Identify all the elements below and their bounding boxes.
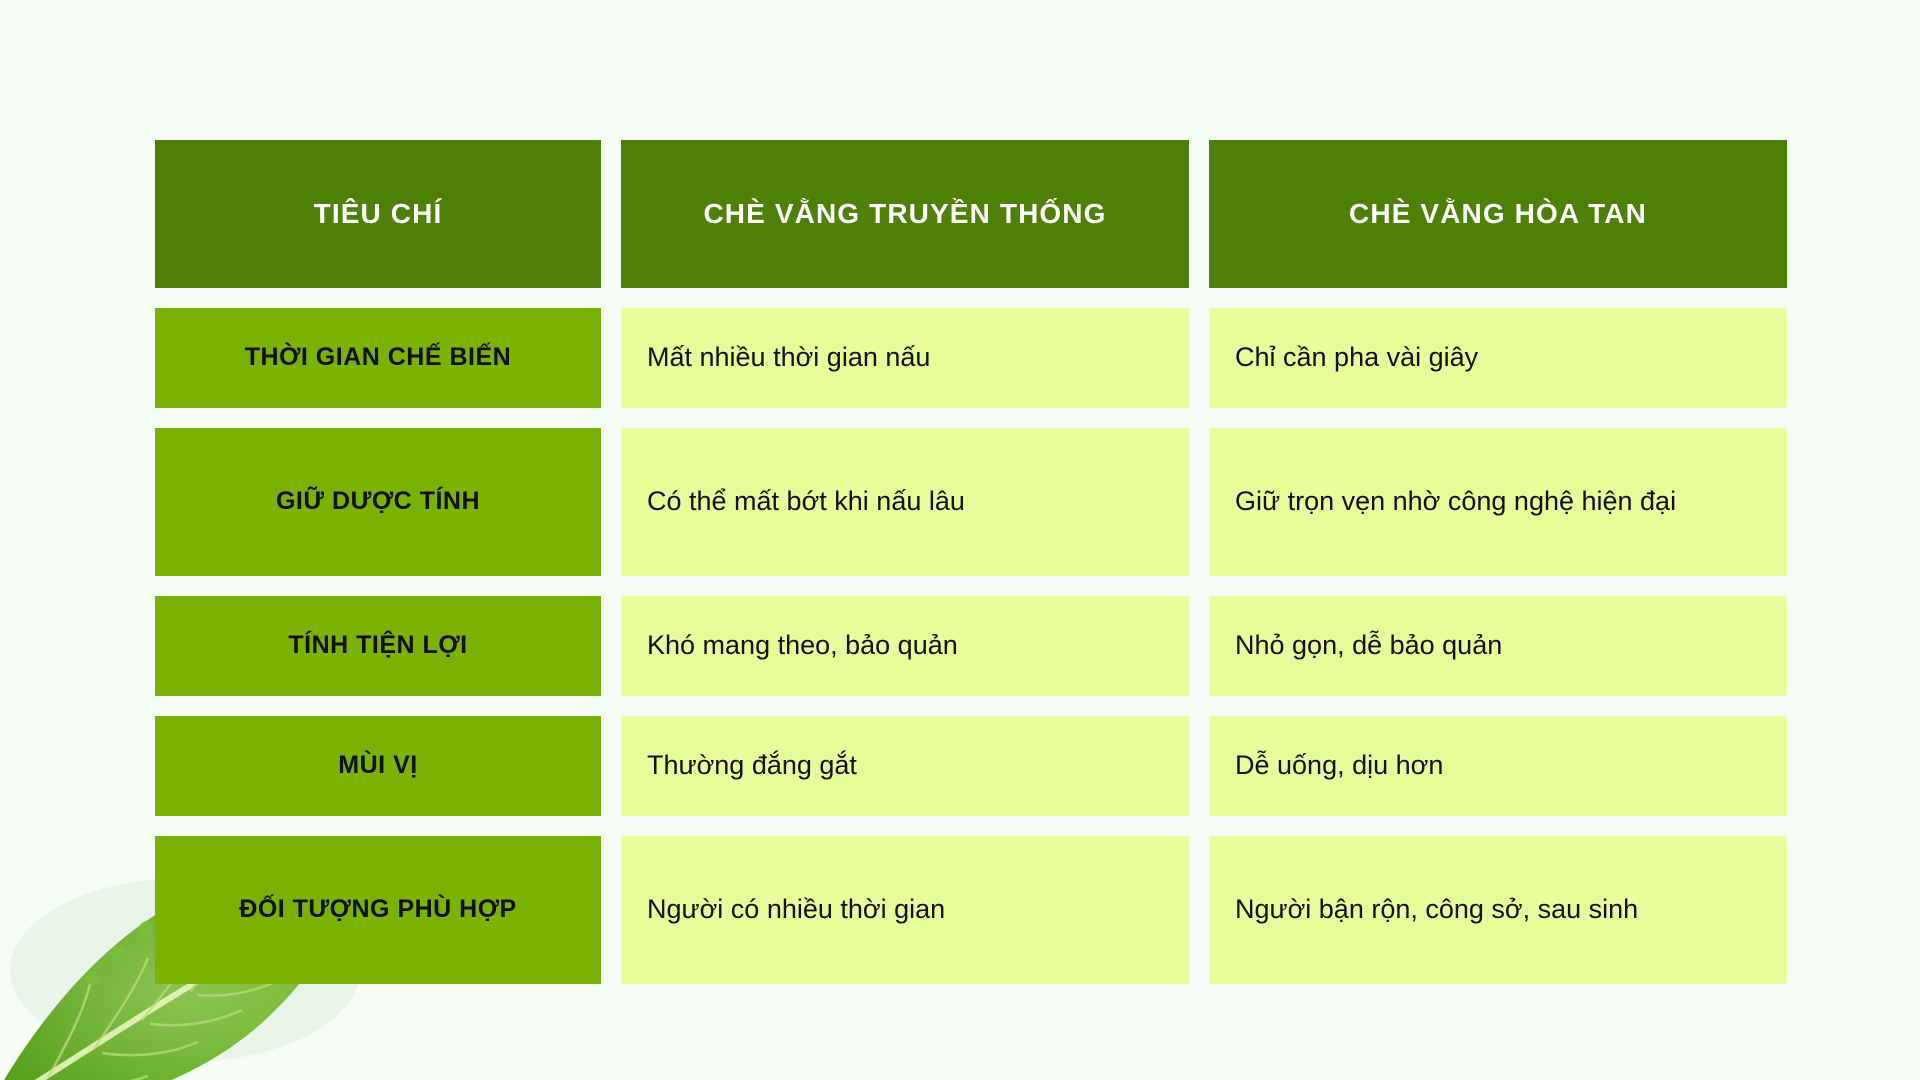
table-cell-traditional: Thường đắng gắt	[621, 716, 1189, 816]
table-header-criterion: TIÊU CHÍ	[155, 140, 601, 288]
comparison-table: TIÊU CHÍ CHÈ VẰNG TRUYỀN THỐNG CHÈ VẰNG …	[155, 140, 1785, 984]
table-cell-instant: Dễ uống, dịu hơn	[1209, 716, 1787, 816]
table-cell-traditional: Mất nhiều thời gian nấu	[621, 308, 1189, 408]
table-cell-instant: Giữ trọn vẹn nhờ công nghệ hiện đại	[1209, 428, 1787, 576]
table-row-label: THỜI GIAN CHẾ BIẾN	[155, 308, 601, 408]
table-row-label: GIỮ DƯỢC TÍNH	[155, 428, 601, 576]
table-header-traditional: CHÈ VẰNG TRUYỀN THỐNG	[621, 140, 1189, 288]
table-cell-instant: Nhỏ gọn, dễ bảo quản	[1209, 596, 1787, 696]
table-cell-instant: Chỉ cần pha vài giây	[1209, 308, 1787, 408]
table-cell-traditional: Khó mang theo, bảo quản	[621, 596, 1189, 696]
table-cell-instant: Người bận rộn, công sở, sau sinh	[1209, 836, 1787, 984]
table-row-label: ĐỐI TƯỢNG PHÙ HỢP	[155, 836, 601, 984]
table-cell-traditional: Người có nhiều thời gian	[621, 836, 1189, 984]
table-cell-traditional: Có thể mất bớt khi nấu lâu	[621, 428, 1189, 576]
table-grid: TIÊU CHÍ CHÈ VẰNG TRUYỀN THỐNG CHÈ VẰNG …	[155, 140, 1785, 984]
table-row-label: MÙI VỊ	[155, 716, 601, 816]
slide-canvas: TIÊU CHÍ CHÈ VẰNG TRUYỀN THỐNG CHÈ VẰNG …	[0, 0, 1920, 1080]
table-row-label: TÍNH TIỆN LỢI	[155, 596, 601, 696]
table-header-instant: CHÈ VẰNG HÒA TAN	[1209, 140, 1787, 288]
